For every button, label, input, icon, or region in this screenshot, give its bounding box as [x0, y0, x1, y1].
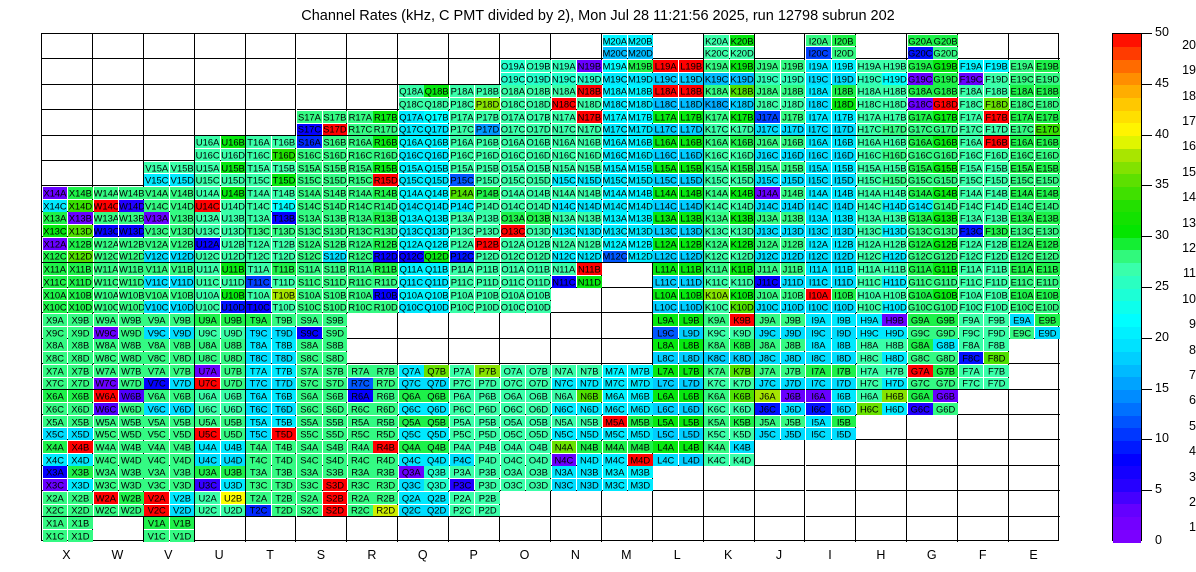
- heatmap-subcell[interactable]: H17C: [857, 124, 882, 136]
- heatmap-subcell[interactable]: K9C: [704, 327, 729, 339]
- heatmap-subcell[interactable]: U3B: [221, 466, 246, 478]
- heatmap-subcell[interactable]: E17D: [1035, 124, 1060, 136]
- heatmap-subcell[interactable]: T9B: [272, 314, 297, 326]
- heatmap-subcell[interactable]: X10C: [43, 301, 68, 313]
- heatmap-subcell[interactable]: K6B: [730, 390, 755, 402]
- heatmap-subcell[interactable]: F11D: [984, 276, 1009, 288]
- heatmap-subcell[interactable]: N3B: [577, 466, 602, 478]
- heatmap-subcell[interactable]: W10B: [119, 289, 144, 301]
- heatmap-subcell[interactable]: F16A: [959, 136, 984, 148]
- heatmap-subcell[interactable]: M15A: [603, 162, 628, 174]
- heatmap-subcell[interactable]: X11A: [43, 263, 68, 275]
- heatmap-subcell[interactable]: X9C: [43, 327, 68, 339]
- heatmap-subcell[interactable]: J16B: [781, 136, 806, 148]
- heatmap-subcell[interactable]: P13C: [450, 225, 475, 237]
- heatmap-subcell[interactable]: L9A: [653, 314, 678, 326]
- heatmap-subcell[interactable]: Q4A: [399, 441, 424, 453]
- heatmap-subcell[interactable]: S2B: [323, 492, 348, 504]
- heatmap-subcell[interactable]: I15C: [806, 174, 831, 186]
- heatmap-subcell[interactable]: Q7A: [399, 365, 424, 377]
- heatmap-subcell[interactable]: I10A: [806, 289, 831, 301]
- heatmap-subcell[interactable]: U3A: [195, 466, 220, 478]
- heatmap-subcell[interactable]: T5A: [246, 416, 271, 428]
- heatmap-subcell[interactable]: X2A: [43, 492, 68, 504]
- heatmap-subcell[interactable]: U4A: [195, 441, 220, 453]
- heatmap-subcell[interactable]: L12A: [653, 238, 678, 250]
- heatmap-subcell[interactable]: R2D: [373, 505, 398, 517]
- heatmap-subcell[interactable]: P10A: [450, 289, 475, 301]
- heatmap-subcell[interactable]: O17C: [501, 124, 526, 136]
- heatmap-subcell[interactable]: U15D: [221, 174, 246, 186]
- heatmap-subcell[interactable]: T13C: [246, 225, 271, 237]
- heatmap-subcell[interactable]: T5B: [272, 416, 297, 428]
- heatmap-subcell[interactable]: L11D: [679, 276, 704, 288]
- heatmap-subcell[interactable]: H10B: [882, 289, 907, 301]
- heatmap-subcell[interactable]: V7C: [144, 378, 169, 390]
- heatmap-subcell[interactable]: W2A: [94, 492, 119, 504]
- heatmap-subcell[interactable]: K20A: [704, 35, 729, 47]
- heatmap-subcell[interactable]: I18C: [806, 98, 831, 110]
- heatmap-subcell[interactable]: N17B: [577, 111, 602, 123]
- heatmap-subcell[interactable]: X14D: [68, 200, 93, 212]
- heatmap-subcell[interactable]: T8C: [246, 352, 271, 364]
- heatmap-subcell[interactable]: M20C: [603, 47, 628, 59]
- heatmap-subcell[interactable]: M19D: [628, 73, 653, 85]
- heatmap-subcell[interactable]: O15B: [526, 162, 551, 174]
- heatmap-subcell[interactable]: H11B: [882, 263, 907, 275]
- heatmap-subcell[interactable]: S12B: [323, 238, 348, 250]
- heatmap-subcell[interactable]: S10C: [297, 301, 322, 313]
- heatmap-subcell[interactable]: K8A: [704, 339, 729, 351]
- heatmap-subcell[interactable]: F11C: [959, 276, 984, 288]
- heatmap-subcell[interactable]: Q17B: [424, 111, 449, 123]
- heatmap-subcell[interactable]: W11B: [119, 263, 144, 275]
- heatmap-subcell[interactable]: J14D: [781, 200, 806, 212]
- heatmap-subcell[interactable]: X6B: [68, 390, 93, 402]
- heatmap-subcell[interactable]: V3C: [144, 479, 169, 491]
- heatmap-subcell[interactable]: U13D: [221, 225, 246, 237]
- heatmap-subcell[interactable]: V6D: [170, 403, 195, 415]
- heatmap-subcell[interactable]: N19C: [552, 73, 577, 85]
- heatmap-subcell[interactable]: K19B: [730, 60, 755, 72]
- heatmap-subcell[interactable]: T16C: [246, 149, 271, 161]
- heatmap-subcell[interactable]: H6B: [882, 390, 907, 402]
- heatmap-subcell[interactable]: O19B: [526, 60, 551, 72]
- heatmap-subcell[interactable]: K19A: [704, 60, 729, 72]
- heatmap-subcell[interactable]: E12C: [1010, 251, 1035, 263]
- heatmap-subcell[interactable]: X1A: [43, 517, 68, 529]
- heatmap-subcell[interactable]: H13C: [857, 225, 882, 237]
- heatmap-subcell[interactable]: L13C: [653, 225, 678, 237]
- heatmap-subcell[interactable]: G8A: [908, 339, 933, 351]
- heatmap-subcell[interactable]: V14D: [170, 200, 195, 212]
- heatmap-subcell[interactable]: J15C: [755, 174, 780, 186]
- heatmap-subcell[interactable]: H10A: [857, 289, 882, 301]
- heatmap-subcell[interactable]: X6A: [43, 390, 68, 402]
- heatmap-subcell[interactable]: F16D: [984, 149, 1009, 161]
- heatmap-subcell[interactable]: O6D: [526, 403, 551, 415]
- heatmap-subcell[interactable]: L18D: [679, 98, 704, 110]
- heatmap-subcell[interactable]: W2C: [94, 505, 119, 517]
- heatmap-subcell[interactable]: O10A: [501, 289, 526, 301]
- heatmap-subcell[interactable]: M13A: [603, 212, 628, 224]
- heatmap-subcell[interactable]: U13C: [195, 225, 220, 237]
- heatmap-subcell[interactable]: M19A: [603, 60, 628, 72]
- heatmap-subcell[interactable]: M14B: [628, 187, 653, 199]
- heatmap-subcell[interactable]: H17D: [882, 124, 907, 136]
- heatmap-subcell[interactable]: F17D: [984, 124, 1009, 136]
- heatmap-subcell[interactable]: L6C: [653, 403, 678, 415]
- heatmap-subcell[interactable]: L16A: [653, 136, 678, 148]
- heatmap-subcell[interactable]: J8D: [781, 352, 806, 364]
- heatmap-subcell[interactable]: V13B: [170, 212, 195, 224]
- heatmap-subcell[interactable]: W5D: [119, 428, 144, 440]
- heatmap-subcell[interactable]: P15A: [450, 162, 475, 174]
- heatmap-subcell[interactable]: O7C: [501, 378, 526, 390]
- heatmap-subcell[interactable]: N5A: [552, 416, 577, 428]
- heatmap-subcell[interactable]: X5D: [68, 428, 93, 440]
- heatmap-subcell[interactable]: G18D: [933, 98, 958, 110]
- heatmap-subcell[interactable]: M14A: [603, 187, 628, 199]
- heatmap-subcell[interactable]: I15A: [806, 162, 831, 174]
- heatmap-subcell[interactable]: O18C: [501, 98, 526, 110]
- heatmap-subcell[interactable]: O11C: [501, 276, 526, 288]
- heatmap-subcell[interactable]: R17D: [373, 124, 398, 136]
- heatmap-subcell[interactable]: G18B: [933, 85, 958, 97]
- heatmap-subcell[interactable]: U3C: [195, 479, 220, 491]
- heatmap-subcell[interactable]: F15B: [984, 162, 1009, 174]
- heatmap-subcell[interactable]: F18C: [959, 98, 984, 110]
- heatmap-subcell[interactable]: W13D: [119, 225, 144, 237]
- heatmap-subcell[interactable]: R12D: [373, 251, 398, 263]
- heatmap-subcell[interactable]: P3A: [450, 466, 475, 478]
- heatmap-subcell[interactable]: Q7B: [424, 365, 449, 377]
- heatmap-subcell[interactable]: I16D: [832, 149, 857, 161]
- heatmap-subcell[interactable]: F17B: [984, 111, 1009, 123]
- heatmap-subcell[interactable]: N4A: [552, 441, 577, 453]
- heatmap-subcell[interactable]: I5D: [832, 428, 857, 440]
- heatmap-subcell[interactable]: R13D: [373, 225, 398, 237]
- heatmap-subcell[interactable]: V11C: [144, 276, 169, 288]
- heatmap-subcell[interactable]: L14A: [653, 187, 678, 199]
- heatmap-subcell[interactable]: Q5C: [399, 428, 424, 440]
- heatmap-subcell[interactable]: M18B: [628, 85, 653, 97]
- heatmap-subcell[interactable]: J7B: [781, 365, 806, 377]
- heatmap-subcell[interactable]: N14C: [552, 200, 577, 212]
- heatmap-subcell[interactable]: I18D: [832, 98, 857, 110]
- heatmap-subcell[interactable]: O3D: [526, 479, 551, 491]
- heatmap-subcell[interactable]: M13B: [628, 212, 653, 224]
- heatmap-subcell[interactable]: H19C: [857, 73, 882, 85]
- heatmap-subcell[interactable]: O3B: [526, 466, 551, 478]
- heatmap-subcell[interactable]: L12C: [653, 251, 678, 263]
- heatmap-subcell[interactable]: U5D: [221, 428, 246, 440]
- heatmap-subcell[interactable]: V4C: [144, 454, 169, 466]
- heatmap-subcell[interactable]: X2B: [68, 492, 93, 504]
- heatmap-subcell[interactable]: G12D: [933, 251, 958, 263]
- heatmap-subcell[interactable]: L17B: [679, 111, 704, 123]
- heatmap-subcell[interactable]: K7B: [730, 365, 755, 377]
- heatmap-subcell[interactable]: V15B: [170, 162, 195, 174]
- heatmap-subcell[interactable]: N17A: [552, 111, 577, 123]
- heatmap-subcell[interactable]: J6C: [755, 403, 780, 415]
- heatmap-subcell[interactable]: G10C: [908, 301, 933, 313]
- heatmap-subcell[interactable]: H14A: [857, 187, 882, 199]
- heatmap-subcell[interactable]: S7D: [323, 378, 348, 390]
- heatmap-subcell[interactable]: L5A: [653, 416, 678, 428]
- heatmap-subcell[interactable]: V12C: [144, 251, 169, 263]
- heatmap-subcell[interactable]: U5A: [195, 416, 220, 428]
- heatmap-subcell[interactable]: Q3A: [399, 466, 424, 478]
- heatmap-subcell[interactable]: J11A: [755, 263, 780, 275]
- heatmap-subcell[interactable]: P6B: [475, 390, 500, 402]
- heatmap-subcell[interactable]: H10D: [882, 301, 907, 313]
- heatmap-subcell[interactable]: K15A: [704, 162, 729, 174]
- heatmap-subcell[interactable]: R4B: [373, 441, 398, 453]
- heatmap-subcell[interactable]: O14B: [526, 187, 551, 199]
- heatmap-subcell[interactable]: K4B: [730, 441, 755, 453]
- heatmap-subcell[interactable]: T10D: [272, 301, 297, 313]
- heatmap-subcell[interactable]: I11D: [832, 276, 857, 288]
- heatmap-subcell[interactable]: S16A: [297, 136, 322, 148]
- heatmap-subcell[interactable]: K16B: [730, 136, 755, 148]
- heatmap-subcell[interactable]: Q14A: [399, 187, 424, 199]
- heatmap-subcell[interactable]: R17B: [373, 111, 398, 123]
- heatmap-subcell[interactable]: F7B: [984, 365, 1009, 377]
- heatmap-subcell[interactable]: Q4B: [424, 441, 449, 453]
- heatmap-subcell[interactable]: G9B: [933, 314, 958, 326]
- heatmap-subcell[interactable]: K15D: [730, 174, 755, 186]
- heatmap-subcell[interactable]: W4A: [94, 441, 119, 453]
- heatmap-subcell[interactable]: H15C: [857, 174, 882, 186]
- heatmap-subcell[interactable]: Q16C: [399, 149, 424, 161]
- heatmap-subcell[interactable]: U12C: [195, 251, 220, 263]
- heatmap-subcell[interactable]: L11A: [653, 263, 678, 275]
- heatmap-subcell[interactable]: I13C: [806, 225, 831, 237]
- heatmap-subcell[interactable]: I5B: [832, 416, 857, 428]
- heatmap-subcell[interactable]: S17A: [297, 111, 322, 123]
- heatmap-subcell[interactable]: S14A: [297, 187, 322, 199]
- heatmap-subcell[interactable]: H16A: [857, 136, 882, 148]
- heatmap-subcell[interactable]: G19B: [933, 60, 958, 72]
- heatmap-subcell[interactable]: U16D: [221, 149, 246, 161]
- heatmap-subcell[interactable]: X4D: [68, 454, 93, 466]
- heatmap-subcell[interactable]: U9C: [195, 327, 220, 339]
- heatmap-subcell[interactable]: E15C: [1010, 174, 1035, 186]
- heatmap-subcell[interactable]: E15A: [1010, 162, 1035, 174]
- heatmap-subcell[interactable]: H14D: [882, 200, 907, 212]
- heatmap-subcell[interactable]: S11B: [323, 263, 348, 275]
- heatmap-subcell[interactable]: K6A: [704, 390, 729, 402]
- heatmap-subcell[interactable]: T6A: [246, 390, 271, 402]
- heatmap-subcell[interactable]: M20D: [628, 47, 653, 59]
- heatmap-subcell[interactable]: P14C: [450, 200, 475, 212]
- heatmap-subcell[interactable]: Q4D: [424, 454, 449, 466]
- heatmap-subcell[interactable]: P5D: [475, 428, 500, 440]
- heatmap-subcell[interactable]: F11B: [984, 263, 1009, 275]
- heatmap-subcell[interactable]: S13B: [323, 212, 348, 224]
- heatmap-subcell[interactable]: I7D: [832, 378, 857, 390]
- heatmap-subcell[interactable]: U14B: [221, 187, 246, 199]
- heatmap-subcell[interactable]: L6B: [679, 390, 704, 402]
- heatmap-subcell[interactable]: K7C: [704, 378, 729, 390]
- heatmap-subcell[interactable]: M4D: [628, 454, 653, 466]
- heatmap-subcell[interactable]: U9A: [195, 314, 220, 326]
- heatmap-subcell[interactable]: S9D: [323, 327, 348, 339]
- heatmap-subcell[interactable]: G15D: [933, 174, 958, 186]
- heatmap-subcell[interactable]: K12D: [730, 251, 755, 263]
- heatmap-subcell[interactable]: N13B: [577, 212, 602, 224]
- heatmap-subcell[interactable]: E14D: [1035, 200, 1060, 212]
- heatmap-subcell[interactable]: M17C: [603, 124, 628, 136]
- heatmap-subcell[interactable]: R15B: [373, 162, 398, 174]
- heatmap-subcell[interactable]: P4A: [450, 441, 475, 453]
- heatmap-subcell[interactable]: J7D: [781, 378, 806, 390]
- heatmap-subcell[interactable]: O12C: [501, 251, 526, 263]
- heatmap-subcell[interactable]: P15D: [475, 174, 500, 186]
- heatmap-subcell[interactable]: M7B: [628, 365, 653, 377]
- heatmap-subcell[interactable]: U13B: [221, 212, 246, 224]
- heatmap-subcell[interactable]: Q10A: [399, 289, 424, 301]
- heatmap-subcell[interactable]: K13A: [704, 212, 729, 224]
- heatmap-subcell[interactable]: Q6A: [399, 390, 424, 402]
- heatmap-subcell[interactable]: O4A: [501, 441, 526, 453]
- heatmap-subcell[interactable]: N16B: [577, 136, 602, 148]
- heatmap-subcell[interactable]: P2A: [450, 492, 475, 504]
- heatmap-subcell[interactable]: M18C: [603, 98, 628, 110]
- heatmap-subcell[interactable]: F9A: [959, 314, 984, 326]
- heatmap-subcell[interactable]: P7D: [475, 378, 500, 390]
- heatmap-subcell[interactable]: V7A: [144, 365, 169, 377]
- heatmap-subcell[interactable]: R11B: [373, 263, 398, 275]
- heatmap-subcell[interactable]: H17B: [882, 111, 907, 123]
- heatmap-subcell[interactable]: E17A: [1010, 111, 1035, 123]
- heatmap-subcell[interactable]: Q11C: [399, 276, 424, 288]
- heatmap-subcell[interactable]: J9B: [781, 314, 806, 326]
- heatmap-subcell[interactable]: L15B: [679, 162, 704, 174]
- heatmap-subcell[interactable]: U9D: [221, 327, 246, 339]
- heatmap-subcell[interactable]: J17D: [781, 124, 806, 136]
- heatmap-subcell[interactable]: R7C: [348, 378, 373, 390]
- heatmap-subcell[interactable]: E18B: [1035, 85, 1060, 97]
- heatmap-subcell[interactable]: M4A: [603, 441, 628, 453]
- heatmap-subcell[interactable]: J5B: [781, 416, 806, 428]
- heatmap-subcell[interactable]: H14B: [882, 187, 907, 199]
- heatmap-subcell[interactable]: O19C: [501, 73, 526, 85]
- heatmap-subcell[interactable]: P4C: [450, 454, 475, 466]
- heatmap-subcell[interactable]: X8B: [68, 339, 93, 351]
- heatmap-subcell[interactable]: L15D: [679, 174, 704, 186]
- heatmap-subcell[interactable]: F13C: [959, 225, 984, 237]
- heatmap-subcell[interactable]: S7A: [297, 365, 322, 377]
- heatmap-subcell[interactable]: H12D: [882, 251, 907, 263]
- heatmap-subcell[interactable]: F19A: [959, 60, 984, 72]
- heatmap-subcell[interactable]: I10D: [832, 301, 857, 313]
- heatmap-subcell[interactable]: S4C: [297, 454, 322, 466]
- heatmap-subcell[interactable]: O7A: [501, 365, 526, 377]
- heatmap-subcell[interactable]: O12B: [526, 238, 551, 250]
- heatmap-subcell[interactable]: G7A: [908, 365, 933, 377]
- heatmap-subcell[interactable]: G19D: [933, 73, 958, 85]
- heatmap-subcell[interactable]: R14A: [348, 187, 373, 199]
- heatmap-subcell[interactable]: Q6B: [424, 390, 449, 402]
- heatmap-subcell[interactable]: P17B: [475, 111, 500, 123]
- heatmap-subcell[interactable]: P11D: [475, 276, 500, 288]
- heatmap-subcell[interactable]: E14C: [1010, 200, 1035, 212]
- heatmap-subcell[interactable]: R12C: [348, 251, 373, 263]
- heatmap-subcell[interactable]: I9A: [806, 314, 831, 326]
- heatmap-subcell[interactable]: R10A: [348, 289, 373, 301]
- heatmap-subcell[interactable]: U6D: [221, 403, 246, 415]
- heatmap-subcell[interactable]: T9A: [246, 314, 271, 326]
- heatmap-subcell[interactable]: W5A: [94, 416, 119, 428]
- heatmap-subcell[interactable]: U7A: [195, 365, 220, 377]
- heatmap-subcell[interactable]: X2D: [68, 505, 93, 517]
- heatmap-subcell[interactable]: G13C: [908, 225, 933, 237]
- heatmap-subcell[interactable]: L15C: [653, 174, 678, 186]
- heatmap-subcell[interactable]: I10C: [806, 301, 831, 313]
- heatmap-subcell[interactable]: J19C: [755, 73, 780, 85]
- heatmap-subcell[interactable]: G10A: [908, 289, 933, 301]
- heatmap-subcell[interactable]: H13A: [857, 212, 882, 224]
- heatmap-subcell[interactable]: E13D: [1035, 225, 1060, 237]
- heatmap-subcell[interactable]: G17B: [933, 111, 958, 123]
- heatmap-subcell[interactable]: H8D: [882, 352, 907, 364]
- heatmap-subcell[interactable]: I15B: [832, 162, 857, 174]
- heatmap-subcell[interactable]: L18B: [679, 85, 704, 97]
- heatmap-subcell[interactable]: N18D: [577, 98, 602, 110]
- heatmap-subcell[interactable]: P12B: [475, 238, 500, 250]
- heatmap-subcell[interactable]: R10B: [373, 289, 398, 301]
- heatmap-subcell[interactable]: F7D: [984, 378, 1009, 390]
- heatmap-subcell[interactable]: N13D: [577, 225, 602, 237]
- heatmap-subcell[interactable]: R13C: [348, 225, 373, 237]
- heatmap-subcell[interactable]: G13B: [933, 212, 958, 224]
- heatmap-subcell[interactable]: K7A: [704, 365, 729, 377]
- heatmap-subcell[interactable]: T4A: [246, 441, 271, 453]
- heatmap-subcell[interactable]: H18B: [882, 85, 907, 97]
- heatmap-subcell[interactable]: V10A: [144, 289, 169, 301]
- heatmap-subcell[interactable]: P6D: [475, 403, 500, 415]
- heatmap-subcell[interactable]: G7D: [933, 378, 958, 390]
- heatmap-subcell[interactable]: X8C: [43, 352, 68, 364]
- heatmap-subcell[interactable]: I11A: [806, 263, 831, 275]
- heatmap-subcell[interactable]: T6B: [272, 390, 297, 402]
- heatmap-subcell[interactable]: K13C: [704, 225, 729, 237]
- heatmap-subcell[interactable]: V4A: [144, 441, 169, 453]
- heatmap-subcell[interactable]: P7C: [450, 378, 475, 390]
- heatmap-subcell[interactable]: X14C: [43, 200, 68, 212]
- heatmap-subcell[interactable]: M4B: [628, 441, 653, 453]
- heatmap-subcell[interactable]: U13A: [195, 212, 220, 224]
- heatmap-subcell[interactable]: N18A: [552, 85, 577, 97]
- heatmap-subcell[interactable]: E10B: [1035, 289, 1060, 301]
- heatmap-subcell[interactable]: G9C: [908, 327, 933, 339]
- heatmap-subcell[interactable]: E11C: [1010, 276, 1035, 288]
- heatmap-subcell[interactable]: J9C: [755, 327, 780, 339]
- heatmap-subcell[interactable]: H12C: [857, 251, 882, 263]
- heatmap-subcell[interactable]: T5D: [272, 428, 297, 440]
- heatmap-subcell[interactable]: L7A: [653, 365, 678, 377]
- heatmap-subcell[interactable]: W5B: [119, 416, 144, 428]
- heatmap-subcell[interactable]: M16D: [628, 149, 653, 161]
- heatmap-subcell[interactable]: O5A: [501, 416, 526, 428]
- heatmap-subcell[interactable]: F14C: [959, 200, 984, 212]
- heatmap-subcell[interactable]: K10A: [704, 289, 729, 301]
- heatmap-subcell[interactable]: Q5D: [424, 428, 449, 440]
- heatmap-subcell[interactable]: P17C: [450, 124, 475, 136]
- heatmap-subcell[interactable]: J11D: [781, 276, 806, 288]
